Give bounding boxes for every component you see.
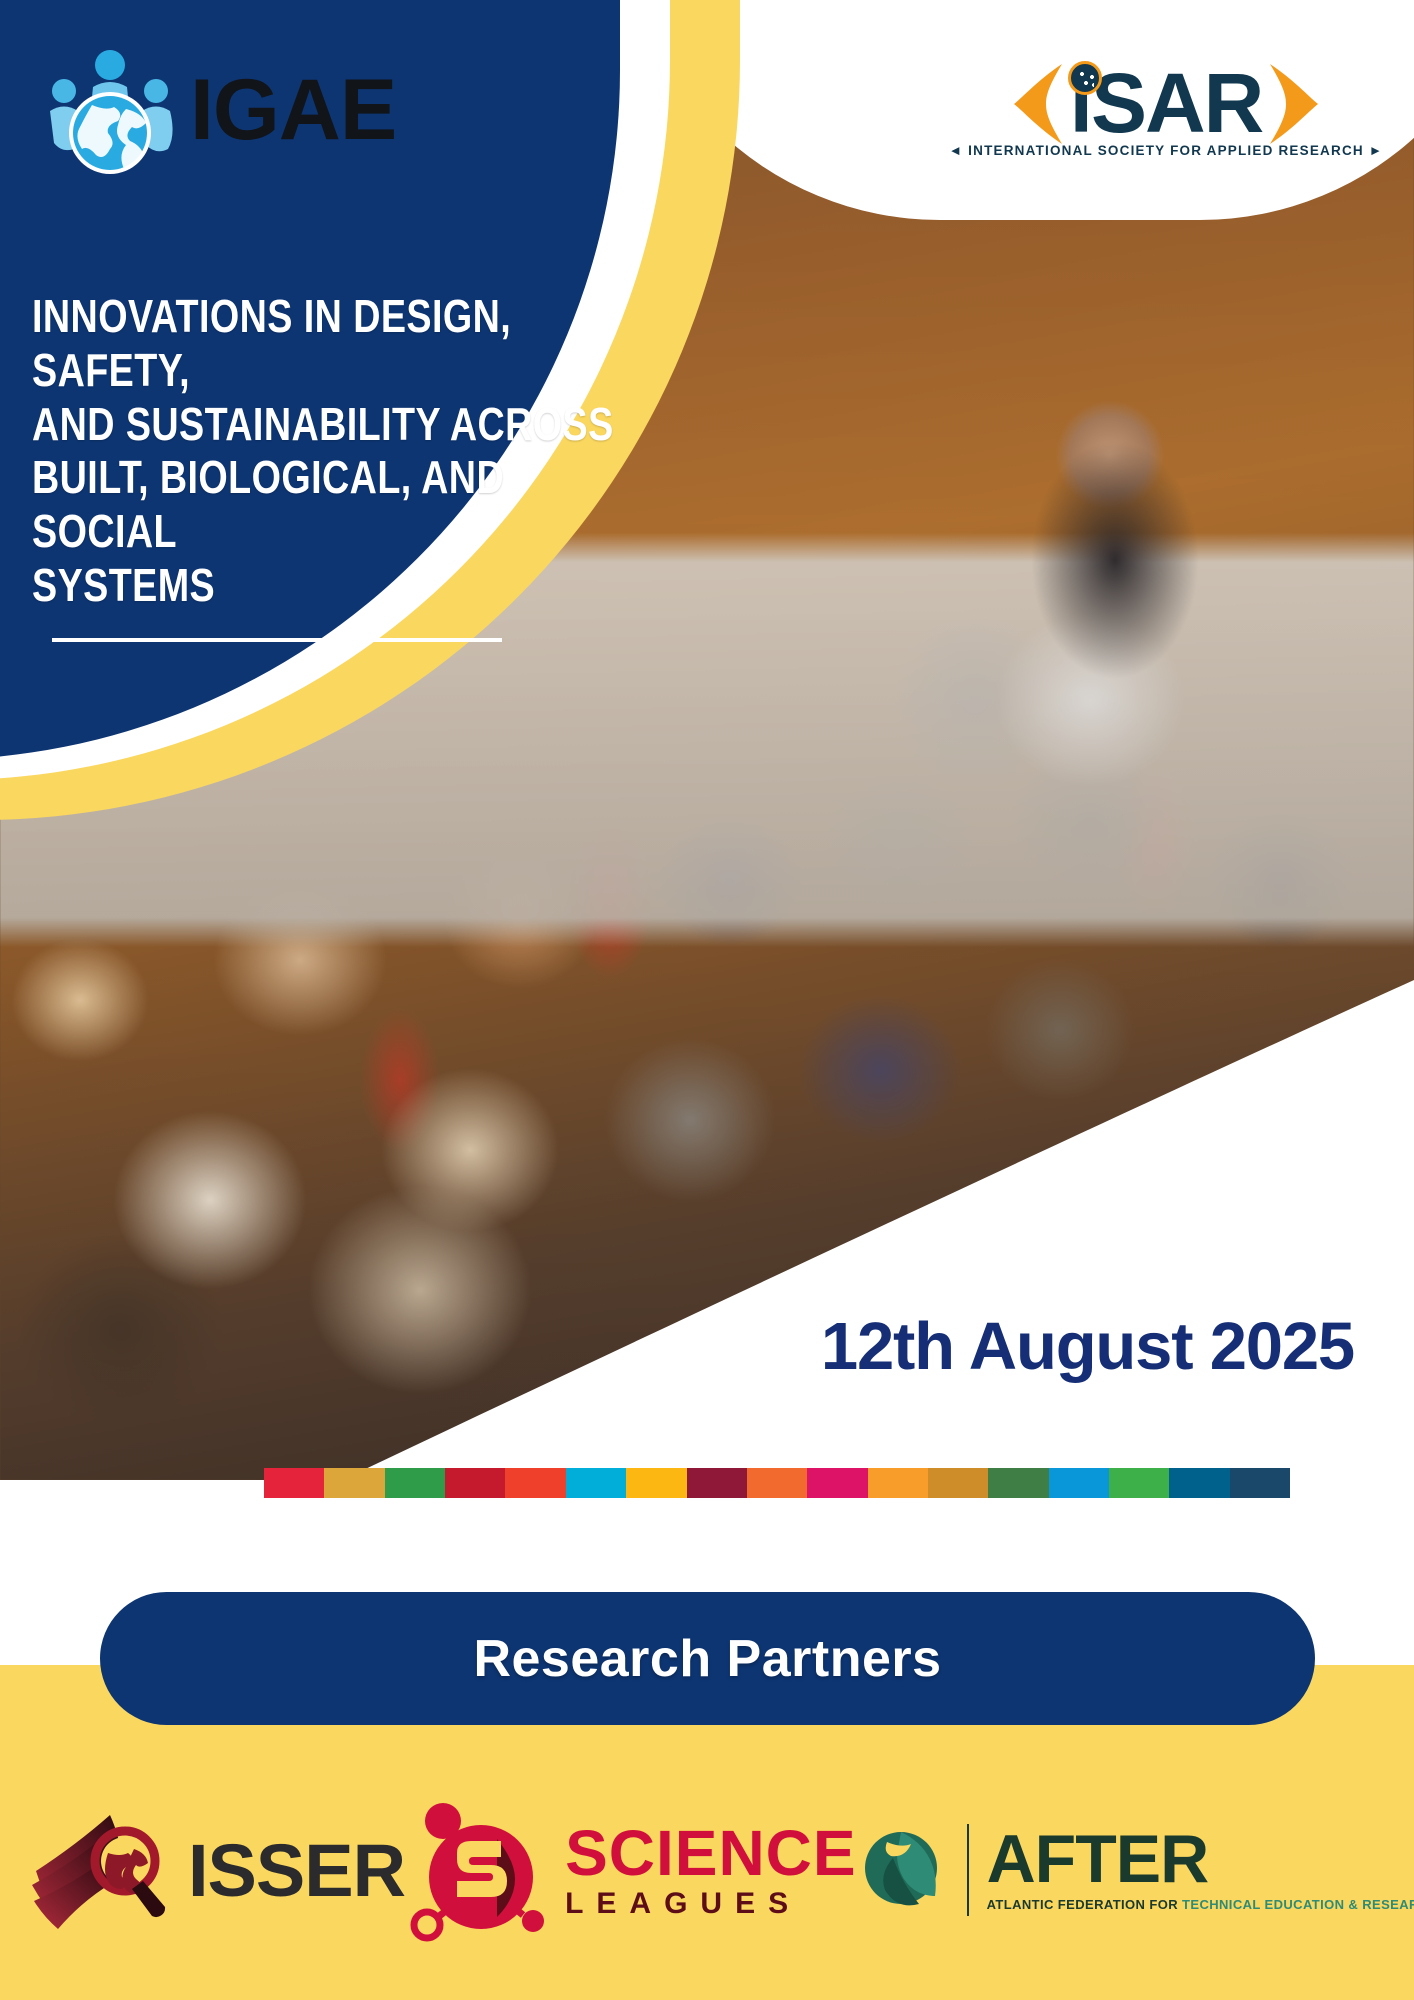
sdg-swatch-2 — [324, 1468, 384, 1498]
partner-logo-isser: ISSER — [30, 1795, 405, 1945]
sdg-swatch-17 — [1230, 1468, 1290, 1498]
chevron-right-icon — [1268, 62, 1320, 146]
sdg-swatch-11 — [868, 1468, 928, 1498]
sdg-swatch-1 — [264, 1468, 324, 1498]
isser-wordmark: ISSER — [188, 1828, 405, 1913]
globe-people-icon — [40, 43, 180, 178]
title-line-3: BUILT, BIOLOGICAL, AND SOCIAL — [32, 451, 639, 559]
sdg-swatch-6 — [566, 1468, 626, 1498]
research-partners-label: Research Partners — [473, 1629, 941, 1689]
title-underline — [52, 638, 502, 642]
after-wordmark: AFTER ATLANTIC FEDERATION FOR TECHNICAL … — [987, 1828, 1414, 1912]
title-line-1: INNOVATIONS IN DESIGN, SAFETY, — [32, 290, 639, 398]
partner-logo-science-leagues: SCIENCE LEAGUES — [405, 1795, 857, 1945]
sdg-swatch-5 — [505, 1468, 565, 1498]
chevron-left-icon — [1012, 62, 1064, 146]
sdg-swatch-10 — [807, 1468, 867, 1498]
sdg-swatch-13 — [988, 1468, 1048, 1498]
sdg-swatch-12 — [928, 1468, 988, 1498]
event-date: 12th August 2025 — [821, 1308, 1354, 1385]
sdg-swatch-7 — [626, 1468, 686, 1498]
title-line-2: AND SUSTAINABILITY ACROSS — [32, 398, 639, 452]
sl-molecule-icon — [405, 1795, 555, 1945]
isar-mark: iSAR — [1012, 61, 1321, 147]
sdg-swatch-3 — [385, 1468, 445, 1498]
sdg-swatch-16 — [1169, 1468, 1229, 1498]
after-tagline-strong: TECHNICAL EDUCATION & RESEARCH — [1182, 1897, 1414, 1912]
poster-title: INNOVATIONS IN DESIGN, SAFETY, AND SUSTA… — [32, 290, 632, 613]
sdg-swatch-8 — [687, 1468, 747, 1498]
science-label: SCIENCE — [565, 1821, 857, 1885]
sdg-swatch-14 — [1049, 1468, 1109, 1498]
sdg-color-bar — [264, 1468, 1290, 1498]
after-divider — [967, 1824, 969, 1916]
isar-logo: iSAR ◄ INTERNATIONAL SOCIETY FOR APPLIED… — [956, 52, 1376, 167]
sdg-swatch-4 — [445, 1468, 505, 1498]
sdg-swatch-9 — [747, 1468, 807, 1498]
partner-logos-row: ISSER SCIENCE LEAGUES — [0, 1770, 1414, 1970]
white-wave-divider — [0, 980, 1414, 1500]
igae-logo: IGAE — [40, 40, 440, 180]
after-tagline-prefix: ATLANTIC FEDERATION FOR — [987, 1897, 1178, 1912]
leaf-person-icon — [857, 1824, 949, 1916]
title-line-4: SYSTEMS — [32, 559, 639, 613]
after-tagline: ATLANTIC FEDERATION FOR TECHNICAL EDUCAT… — [987, 1897, 1414, 1912]
book-magnifier-globe-icon — [30, 1805, 180, 1935]
sdg-swatch-15 — [1109, 1468, 1169, 1498]
isar-wordmark: iSAR — [1070, 65, 1263, 142]
science-leagues-wordmark: SCIENCE LEAGUES — [565, 1821, 857, 1919]
leagues-label: LEAGUES — [565, 1889, 857, 1919]
after-label: AFTER — [987, 1828, 1414, 1891]
partner-logo-after: AFTER ATLANTIC FEDERATION FOR TECHNICAL … — [857, 1795, 1414, 1945]
conference-poster: IGAE iSAR ◄ INTERNATIONAL SOCIETY FOR AP… — [0, 0, 1414, 2000]
igae-wordmark: IGAE — [190, 67, 396, 153]
isar-dot-icon — [1068, 61, 1102, 95]
research-partners-banner: Research Partners — [100, 1592, 1315, 1725]
